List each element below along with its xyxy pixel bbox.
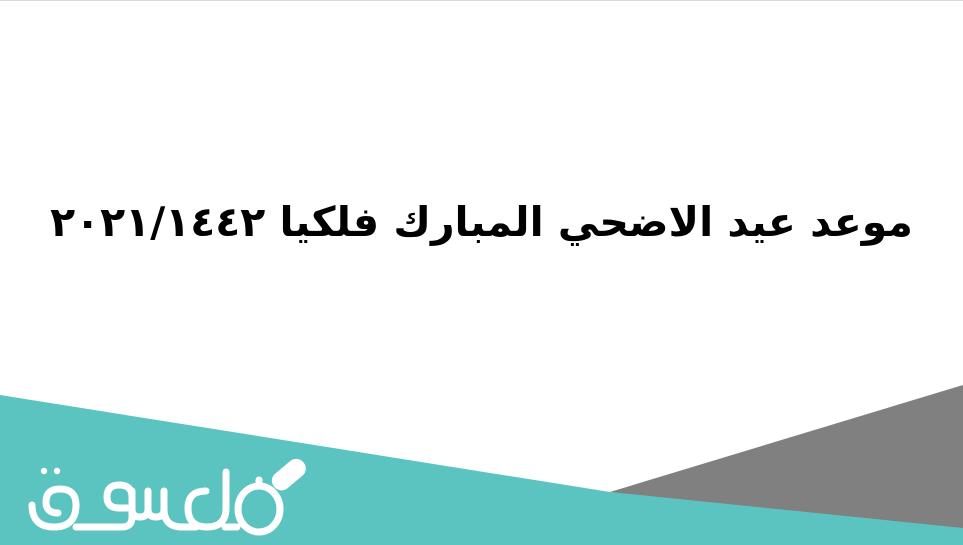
site-logo[interactable]: موسوعة [14, 447, 314, 539]
logo-artwork: موسوعة [14, 447, 314, 539]
headline-container: موعد عيد الاضحي المبارك فلكيا ٢٠٢١/١٤٤٢ [0, 197, 963, 248]
article-header-banner: موعد عيد الاضحي المبارك فلكيا ٢٠٢١/١٤٤٢ [0, 0, 963, 545]
logo-dot-1 [41, 468, 47, 474]
logo-glyph-waw-2 [188, 472, 226, 527]
logo-glyph-ain [76, 485, 132, 527]
logo-dot-2 [54, 468, 60, 474]
magnifier-handle-icon [268, 455, 309, 494]
gray-diagonal-triangle [610, 385, 963, 545]
logo-glyph-waw-magnifier [238, 486, 280, 532]
page-title: موعد عيد الاضحي المبارك فلكيا ٢٠٢١/١٤٤٢ [50, 197, 913, 248]
logo-glyph-ta-marbuta [32, 489, 76, 527]
